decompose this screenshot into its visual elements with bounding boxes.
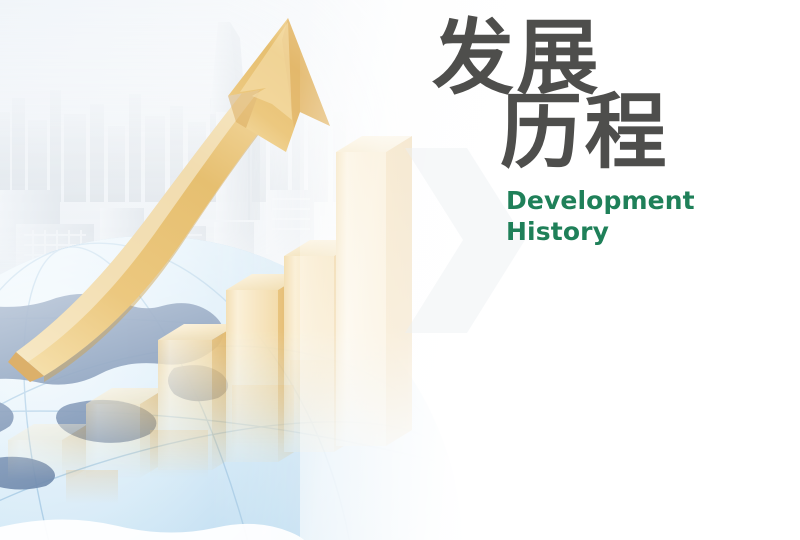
- title-english: Development History: [506, 185, 758, 247]
- banner-image: 发展 历程 Development History: [0, 0, 800, 540]
- bar-1: [8, 424, 88, 484]
- title-chinese-line2: 历程: [500, 92, 758, 172]
- title-block: 发展 历程 Development History: [428, 18, 758, 247]
- title-english-line1: Development: [506, 185, 758, 216]
- bar-2: [86, 388, 166, 478]
- title-english-line2: History: [506, 216, 758, 247]
